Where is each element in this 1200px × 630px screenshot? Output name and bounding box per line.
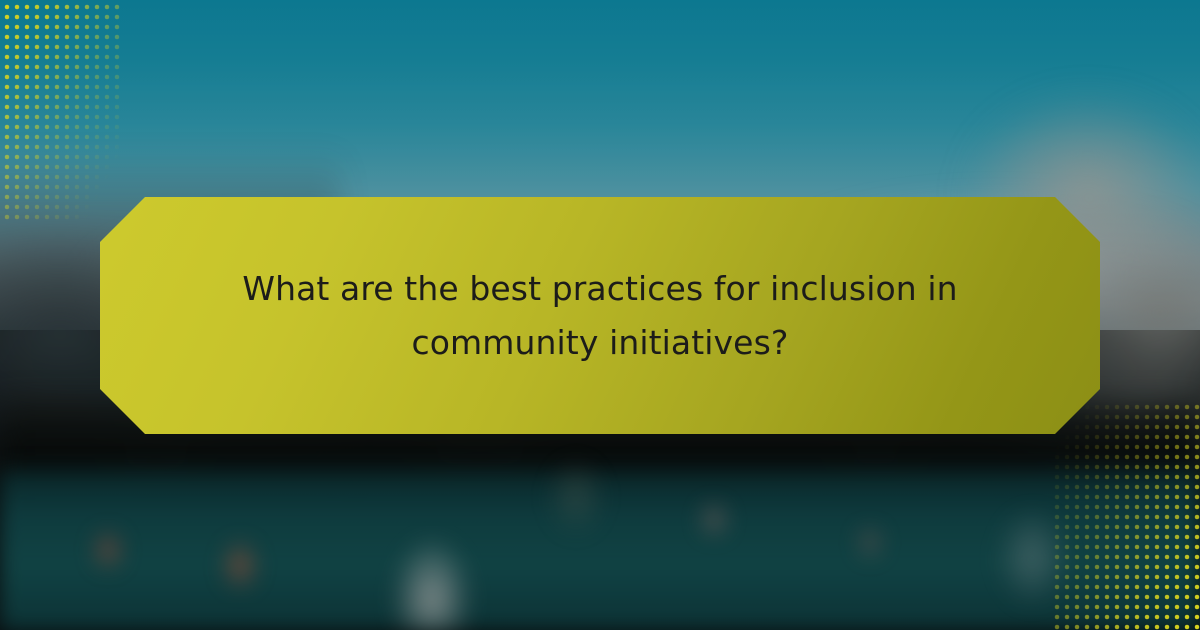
question-card: What are the best practices for inclusio… <box>100 197 1100 434</box>
question-text: What are the best practices for inclusio… <box>220 262 980 370</box>
poster-canvas: What are the best practices for inclusio… <box>0 0 1200 630</box>
